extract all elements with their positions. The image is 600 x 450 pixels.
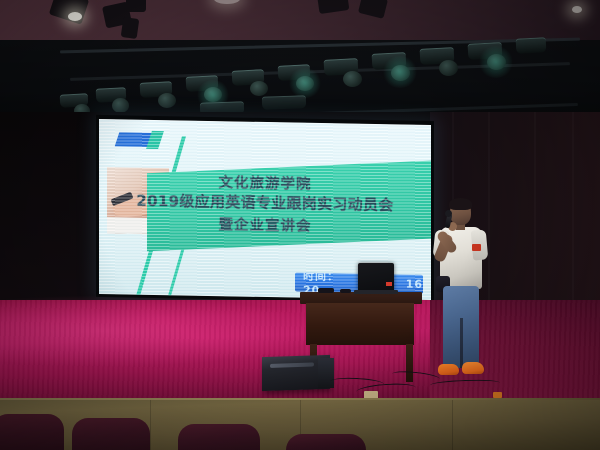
stage-lamp-lens bbox=[439, 60, 458, 76]
apron-seam bbox=[150, 400, 151, 450]
audience-seat bbox=[178, 424, 260, 450]
audience-seat bbox=[286, 434, 366, 450]
laptop-indicator bbox=[386, 282, 392, 286]
shirt-logo bbox=[472, 244, 481, 251]
speaker-handle bbox=[270, 362, 314, 368]
presenter-leg-gap bbox=[460, 318, 463, 368]
stage-lamp bbox=[516, 37, 547, 54]
stage-lamp-glow bbox=[288, 68, 322, 98]
laptop-base bbox=[354, 290, 398, 294]
microphone-head bbox=[445, 210, 452, 217]
audience-seat bbox=[0, 414, 64, 450]
date-banner-suffix: 16 bbox=[406, 278, 423, 291]
stage-lamp-lens bbox=[112, 98, 129, 113]
spotlight-icon bbox=[121, 17, 140, 39]
presenter-hair bbox=[449, 198, 472, 210]
stage-lamp-glow bbox=[382, 56, 418, 88]
stage-lamp bbox=[262, 95, 306, 110]
desk-item bbox=[340, 289, 351, 293]
stage-lamp-lens bbox=[250, 81, 268, 96]
spotlight-icon bbox=[126, 0, 146, 12]
curtain-fold bbox=[572, 112, 574, 317]
ceiling-light bbox=[68, 12, 82, 21]
apron-seam bbox=[452, 400, 453, 450]
laptop-icon bbox=[358, 263, 394, 291]
presenter-shoe-left bbox=[438, 364, 459, 375]
ceiling-light bbox=[572, 6, 582, 13]
curtain-fold bbox=[534, 112, 536, 317]
desk-item bbox=[318, 288, 334, 293]
stage-lamp-lens bbox=[343, 71, 362, 87]
audience-seat bbox=[72, 418, 150, 450]
stage-lamp-glow bbox=[478, 46, 514, 78]
stage-lamp-lens bbox=[158, 93, 176, 108]
auditorium-scene: 文化旅游学院 2019级应用英语专业跟岗实习动员会 暨企业宣讲会 时间：20 1… bbox=[0, 0, 600, 450]
presenter-desk bbox=[306, 303, 414, 345]
presenter-shoe-right bbox=[462, 362, 484, 374]
speaker-person bbox=[432, 200, 494, 392]
